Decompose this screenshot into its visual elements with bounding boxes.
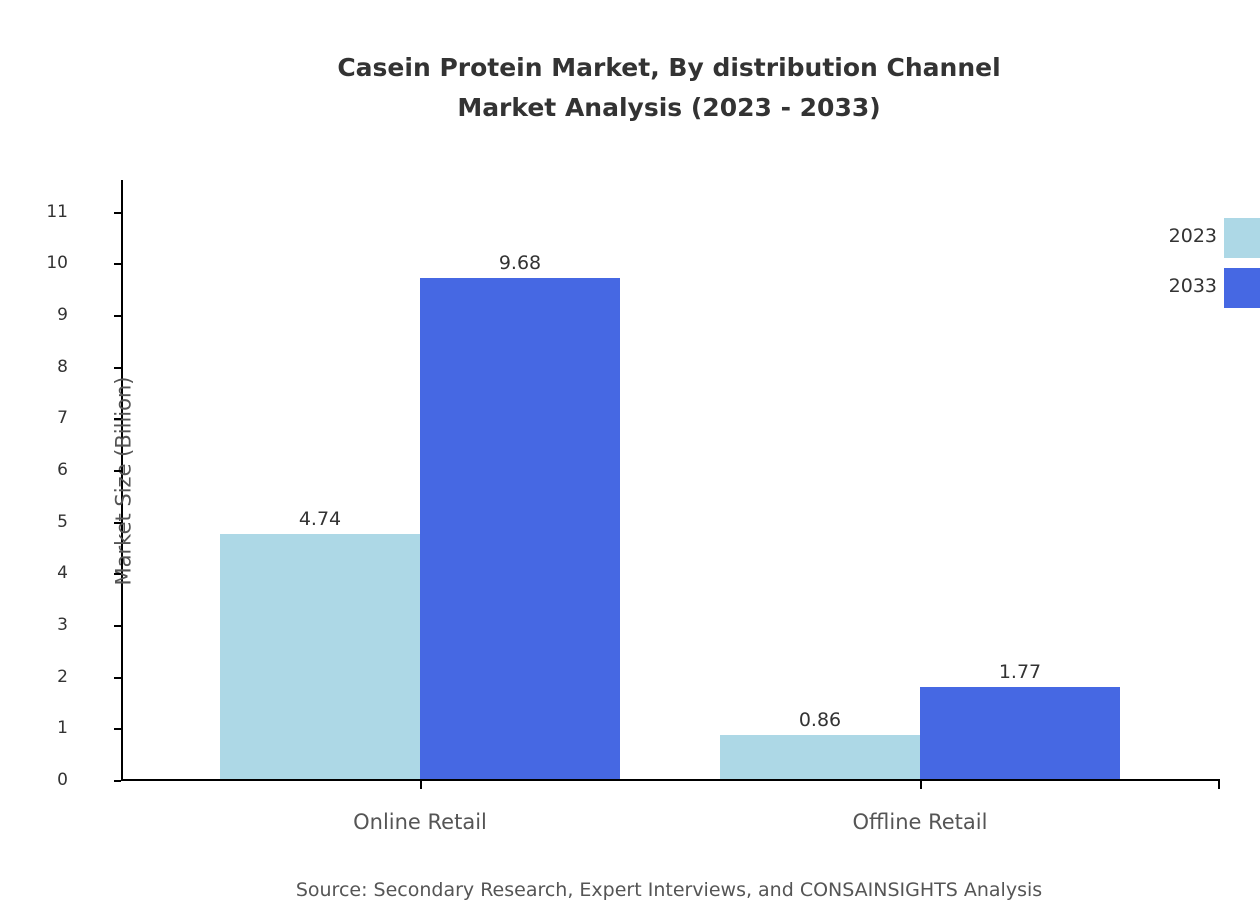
y-tick-11 (114, 212, 121, 214)
y-tick-label-5: 5 (8, 514, 68, 531)
chart-figure: Casein Protein Market, By distribution C… (0, 0, 1260, 920)
legend-item-2033[interactable]: 2033 (1120, 268, 1260, 308)
x-axis-spine (121, 779, 1220, 781)
y-tick-label-11: 11 (8, 204, 68, 221)
y-tick-5 (114, 522, 121, 524)
y-tick-4 (114, 573, 121, 575)
chart-title: Casein Protein Market, By distribution C… (0, 48, 1260, 128)
legend-label-2023: 2023 (1120, 225, 1217, 247)
chart-title-line-1: Casein Protein Market, By distribution C… (0, 48, 1260, 88)
x-tick-offline-retail (920, 781, 922, 789)
y-tick-label-9: 9 (8, 307, 68, 324)
y-tick-label-4: 4 (8, 565, 68, 582)
x-axis-end-tick (1218, 781, 1220, 789)
y-tick-label-10: 10 (8, 255, 68, 272)
legend-label-2033: 2033 (1120, 275, 1217, 297)
bar-online-retail-2023[interactable] (220, 534, 420, 779)
bar-value-online-retail-2033: 9.68 (420, 253, 620, 273)
chart-title-line-2: Market Analysis (2023 - 2033) (0, 88, 1260, 128)
bar-value-offline-retail-2023: 0.86 (720, 710, 920, 730)
y-tick-8 (114, 367, 121, 369)
x-tick-label-online-retail: Online Retail (270, 810, 570, 834)
legend-item-2023[interactable]: 2023 (1120, 218, 1260, 258)
y-tick-2 (114, 677, 121, 679)
bar-offline-retail-2033[interactable] (920, 687, 1120, 779)
source-caption: Source: Secondary Research, Expert Inter… (0, 878, 1260, 902)
y-tick-label-6: 6 (8, 462, 68, 479)
y-tick-9 (114, 315, 121, 317)
y-tick-3 (114, 625, 121, 627)
x-tick-online-retail (420, 781, 422, 789)
y-tick-6 (114, 470, 121, 472)
bar-online-retail-2033[interactable] (420, 278, 620, 779)
bar-value-offline-retail-2033: 1.77 (920, 662, 1120, 682)
bar-offline-retail-2023[interactable] (720, 735, 920, 779)
x-tick-label-offline-retail: Offline Retail (770, 810, 1070, 834)
legend-swatch-2033 (1224, 268, 1260, 308)
legend-swatch-2023 (1224, 218, 1260, 258)
y-tick-label-8: 8 (8, 359, 68, 376)
plot-area: Market Size (Billion) 0 1 2 3 4 5 6 7 8 … (121, 180, 1220, 781)
y-tick-label-0: 0 (8, 772, 68, 789)
y-tick-1 (114, 728, 121, 730)
y-tick-7 (114, 418, 121, 420)
y-tick-label-1: 1 (8, 720, 68, 737)
y-tick-0 (114, 780, 121, 782)
y-tick-10 (114, 263, 121, 265)
y-tick-label-3: 3 (8, 617, 68, 634)
chart-legend: 2023 2033 (1120, 213, 1260, 308)
y-tick-label-2: 2 (8, 669, 68, 686)
y-tick-label-7: 7 (8, 410, 68, 427)
y-axis-label: Market Size (Billion) (111, 376, 135, 585)
bar-value-online-retail-2023: 4.74 (220, 509, 420, 529)
